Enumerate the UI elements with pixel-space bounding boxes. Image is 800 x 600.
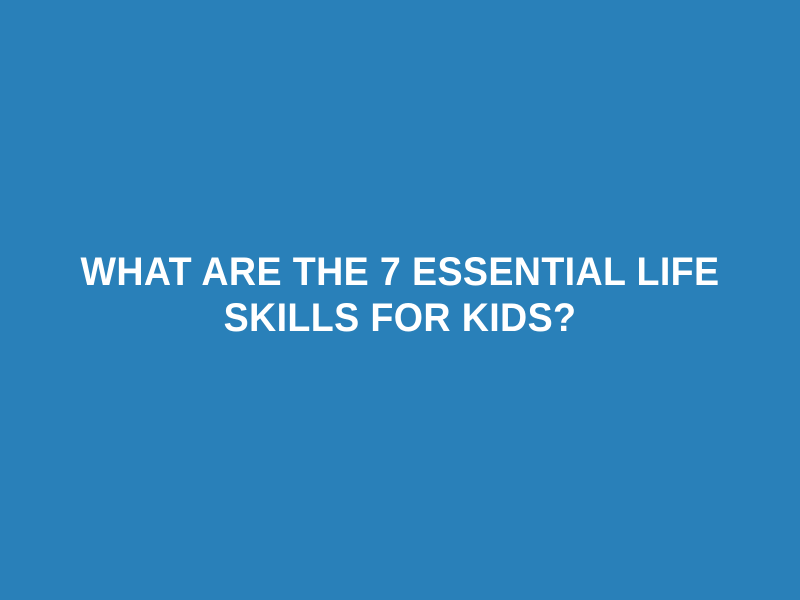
hero-banner: WHAT ARE THE 7 ESSENTIAL LIFE SKILLS FOR… xyxy=(0,0,800,600)
page-title: WHAT ARE THE 7 ESSENTIAL LIFE SKILLS FOR… xyxy=(71,249,729,341)
headline-block: WHAT ARE THE 7 ESSENTIAL LIFE SKILLS FOR… xyxy=(50,249,750,351)
